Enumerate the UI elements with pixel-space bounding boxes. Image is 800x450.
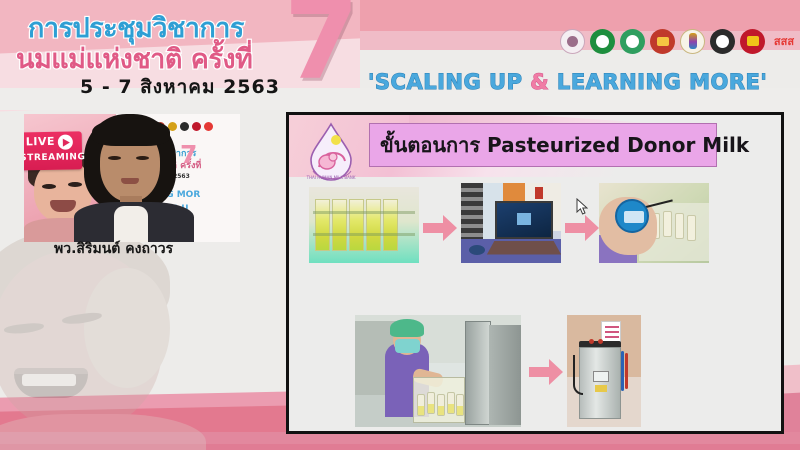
step-arrow-1: [423, 215, 457, 241]
video-baby-mouth: [50, 200, 76, 212]
tagline-ampersand: &: [530, 70, 549, 94]
presenter-eye-left: [108, 156, 121, 160]
royal-crest-logo: [680, 29, 705, 54]
streaming-label: STREAMING: [24, 152, 86, 163]
photo1-rack-1: [315, 199, 330, 251]
photo4-bottle-4: [447, 392, 455, 414]
red-emblem-logo: [740, 29, 765, 54]
presenter-bangs: [92, 118, 170, 146]
photo4-pasteurizer-body: [489, 325, 521, 425]
photo4-bottle-3: [437, 394, 445, 416]
photo3-bottle-3: [675, 213, 684, 239]
presenter-video[interactable]: การประชุมวิชาการ นมแม่แห่งชาติ ครั้งที่ …: [24, 114, 240, 242]
mini-logo-7: [192, 122, 201, 131]
photo5-blue-hose: [621, 351, 624, 391]
black-garuda-logo: [710, 29, 735, 54]
photo2-mouse: [469, 245, 485, 255]
photo5-knob-1: [589, 339, 594, 344]
tagline-prefix: 'SCALING UP: [368, 70, 530, 94]
photo-nurse-loading-bottles: [355, 315, 521, 427]
thaihealth-label: สสส: [774, 32, 794, 50]
red-temple-emblem-logo: [650, 29, 675, 54]
edition-number: 7: [284, 0, 359, 96]
photo1-rack-5: [383, 199, 398, 251]
presentation-slide: THAI HUMAN MILK BANK ขั้นตอนการ Pasteuri…: [286, 112, 784, 434]
photo1-shelf-1: [313, 211, 415, 214]
presenter-shirt: [114, 206, 148, 242]
photo2-red-object: [535, 187, 543, 199]
photo1-shelf-2: [313, 233, 415, 236]
thai-human-milk-bank-logo: THAI HUMAN MILK BANK: [303, 121, 359, 181]
photo2-screen-icon: [517, 213, 531, 225]
conference-tagline: 'SCALING UP & LEARNING MORE': [368, 70, 767, 94]
video-baby-eye-right: [68, 182, 82, 187]
photo3-thermometer-display: [624, 211, 644, 223]
background-baby-watermark: [0, 228, 218, 450]
live-badge-label: LIVE: [26, 135, 55, 149]
royal-patronage-logo: [560, 29, 585, 54]
photo3-thermometer-device: [615, 199, 649, 233]
photo4-bottle-crate: [413, 377, 465, 423]
photo4-bottle-1: [417, 394, 425, 416]
photo-laptop-workstation: [461, 183, 561, 263]
live-stream-panel: การประชุมวิชาการ นมแม่แห่งชาติ ครั้งที่ …: [0, 110, 282, 450]
photo4-bottle-5: [456, 394, 464, 416]
presenter-eye-right: [136, 156, 149, 160]
play-icon: [58, 134, 73, 149]
photo4-nurse-cap: [390, 319, 424, 337]
conference-header: การประชุมวิชาการ นมแม่แห่งชาติ ครั้งที่ …: [0, 0, 800, 110]
video-baby-eye-left: [42, 184, 56, 189]
watermark-body: [0, 414, 206, 450]
photo3-bottle-2: [663, 211, 672, 237]
photo2-laptop-keyboard: [487, 241, 561, 254]
conference-date: 5 - 7 สิงหาคม 2563: [80, 72, 280, 102]
photo3-bottle-4: [687, 215, 696, 241]
photo4-pasteurizer-door: [465, 321, 491, 425]
slide-title-banner: ขั้นตอนการ Pasteurized Donor Milk: [369, 123, 717, 167]
photo4-nurse-mask: [395, 339, 420, 353]
sponsor-logo-row: สสส: [560, 24, 796, 58]
thaihealth-sss-logo: สสส: [770, 29, 798, 54]
photo5-machine-body: [579, 347, 621, 419]
photo5-machine-badge: [595, 385, 607, 392]
photo5-red-hose: [625, 353, 628, 389]
photo5-control-panel: [593, 371, 609, 382]
mini-logo-8: [204, 122, 213, 131]
photo1-rack-2: [332, 199, 347, 251]
photo-pasteurizer-machine: [567, 315, 641, 427]
presenter-name-caption: พว.สิริมนต์ คงถาวร: [54, 238, 173, 260]
tagline-suffix: LEARNING MORE': [549, 70, 767, 94]
live-streaming-badge: LIVE STREAMING: [24, 131, 82, 170]
photo1-rack-4: [366, 199, 381, 251]
ministry-public-health-logo: [620, 29, 645, 54]
svg-text:THAI HUMAN MILK BANK: THAI HUMAN MILK BANK: [306, 175, 356, 180]
watermark-teeth: [22, 374, 76, 386]
watermark-hat-brim: [84, 268, 170, 388]
step-arrow-3: [529, 359, 563, 385]
photo4-bottle-2: [427, 392, 435, 414]
photo5-power-cord: [573, 355, 583, 395]
step-arrow-2: [565, 215, 599, 241]
photo1-rack-3: [349, 199, 364, 251]
photo5-knob-2: [598, 339, 603, 344]
green-circle-org-logo: [590, 29, 615, 54]
mini-logo-6: [180, 122, 189, 131]
mouse-pointer: [576, 198, 588, 216]
screen: การประชุมวิชาการ นมแม่แห่งชาติ ครั้งที่ …: [0, 0, 800, 450]
presenter-mouth: [121, 178, 139, 184]
photo-milk-bottles-rack: [309, 187, 419, 263]
photo-hand-thermometer-probe: [599, 183, 709, 263]
slide-title: ขั้นตอนการ Pasteurized Donor Milk: [370, 129, 749, 161]
video-poster-number: 7: [180, 142, 197, 167]
